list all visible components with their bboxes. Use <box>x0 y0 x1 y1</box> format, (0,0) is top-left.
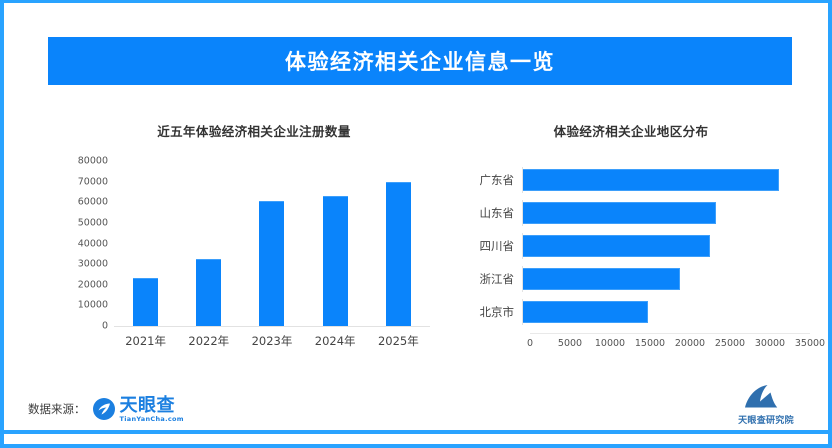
bar-2021年 <box>133 278 158 326</box>
bar-2023年 <box>259 201 284 326</box>
panel-registration-trend: 近五年体验经济相关企业注册数量 800007000060000500004000… <box>56 103 438 375</box>
y-axis-tick-label: 0 <box>102 321 108 332</box>
bar-row: 广东省 <box>452 167 810 193</box>
horizontal-bars-plot-area: 广东省山东省四川省浙江省北京市 <box>452 163 810 328</box>
x-axis-tick-label: 2021年 <box>115 333 176 349</box>
research-institute-watermark: 天眼查研究院 <box>730 382 802 426</box>
footer: 数据来源： 天眼查 TianYanCha.com <box>4 382 828 444</box>
y-axis-tick-label: 70000 <box>78 176 108 187</box>
header-banner: 体验经济相关企业信息一览 <box>48 37 792 85</box>
x-axis-tick-label: 5000 <box>558 338 582 349</box>
chart-title-right: 体验经济相关企业地区分布 <box>452 103 810 140</box>
chart-title-left: 近五年体验经济相关企业注册数量 <box>56 103 438 140</box>
x-axis-tick-label: 0 <box>527 338 533 349</box>
data-source: 数据来源： 天眼查 TianYanCha.com <box>28 397 184 423</box>
y-axis-tick-label: 80000 <box>78 156 108 167</box>
infographic-page: 体验经济相关企业信息一览 近五年体验经济相关企业注册数量 80000700006… <box>0 0 832 448</box>
y-axis-tick-label: 50000 <box>78 217 108 228</box>
category-label: 山东省 <box>452 205 522 221</box>
bar-北京市 <box>523 301 648 323</box>
bar-column <box>305 161 366 326</box>
tianyancha-name-cn: 天眼查 <box>120 397 184 415</box>
category-label: 广东省 <box>452 172 522 188</box>
x-axis-tick-label: 15000 <box>635 338 665 349</box>
y-axis-tick-label: 10000 <box>78 300 108 311</box>
bar-track <box>522 266 810 292</box>
bar-四川省 <box>523 235 710 257</box>
tianyancha-logo: 天眼查 TianYanCha.com <box>92 397 184 423</box>
research-institute-icon <box>743 382 789 412</box>
x-axis: 05000100001500020000250003000035000 <box>530 333 810 353</box>
bar-广东省 <box>523 169 779 191</box>
bar-column <box>178 161 239 326</box>
bar-row: 四川省 <box>452 233 810 259</box>
bar-track <box>522 299 810 325</box>
x-axis-line <box>530 333 810 334</box>
bar-山东省 <box>523 202 716 224</box>
bar-column <box>115 161 176 326</box>
x-axis-tick-label: 35000 <box>795 338 825 349</box>
page-title: 体验经济相关企业信息一览 <box>285 46 555 76</box>
x-axis-tick-label: 2025年 <box>368 333 429 349</box>
tianyancha-wordmark: 天眼查 TianYanCha.com <box>120 397 184 423</box>
x-axis-tick-label: 20000 <box>675 338 705 349</box>
y-axis-tick-label: 40000 <box>78 238 108 249</box>
y-axis-tick-label: 30000 <box>78 259 108 270</box>
bar-2024年 <box>323 196 348 326</box>
bar-row: 北京市 <box>452 299 810 325</box>
bar-2025年 <box>386 182 411 326</box>
x-axis-tick-label: 25000 <box>715 338 745 349</box>
bar-track <box>522 233 810 259</box>
x-axis-tick-label: 10000 <box>595 338 625 349</box>
tianyancha-eye-icon <box>92 397 116 421</box>
vertical-bar-chart: 8000070000600005000040000300002000010000… <box>56 161 438 361</box>
category-label: 北京市 <box>452 304 522 320</box>
category-label: 四川省 <box>452 238 522 254</box>
y-axis-tick-label: 60000 <box>78 197 108 208</box>
vertical-bars-plot-area <box>114 161 430 327</box>
bar-column <box>242 161 303 326</box>
footer-divider <box>4 430 828 434</box>
data-source-label: 数据来源： <box>28 401 86 417</box>
y-axis-labels: 8000070000600005000040000300002000010000… <box>56 161 112 326</box>
bar-column <box>368 161 429 326</box>
bar-浙江省 <box>523 268 680 290</box>
bar-row: 山东省 <box>452 200 810 226</box>
y-axis-tick-label: 20000 <box>78 279 108 290</box>
x-axis-tick-label: 2023年 <box>242 333 303 349</box>
bar-track <box>522 200 810 226</box>
x-axis-labels: 2021年2022年2023年2024年2025年 <box>114 333 430 349</box>
bar-2022年 <box>196 259 221 326</box>
research-institute-name: 天眼查研究院 <box>730 413 802 426</box>
horizontal-bar-chart: 广东省山东省四川省浙江省北京市 050001000015000200002500… <box>452 159 810 364</box>
tianyancha-name-en: TianYanCha.com <box>120 416 184 423</box>
x-axis-tick-label: 30000 <box>755 338 785 349</box>
bar-track <box>522 167 810 193</box>
x-axis-tick-label: 2022年 <box>178 333 239 349</box>
panel-region-distribution: 体验经济相关企业地区分布 广东省山东省四川省浙江省北京市 05000100001… <box>452 103 810 375</box>
x-axis-tick-label: 2024年 <box>305 333 366 349</box>
category-label: 浙江省 <box>452 271 522 287</box>
bar-row: 浙江省 <box>452 266 810 292</box>
